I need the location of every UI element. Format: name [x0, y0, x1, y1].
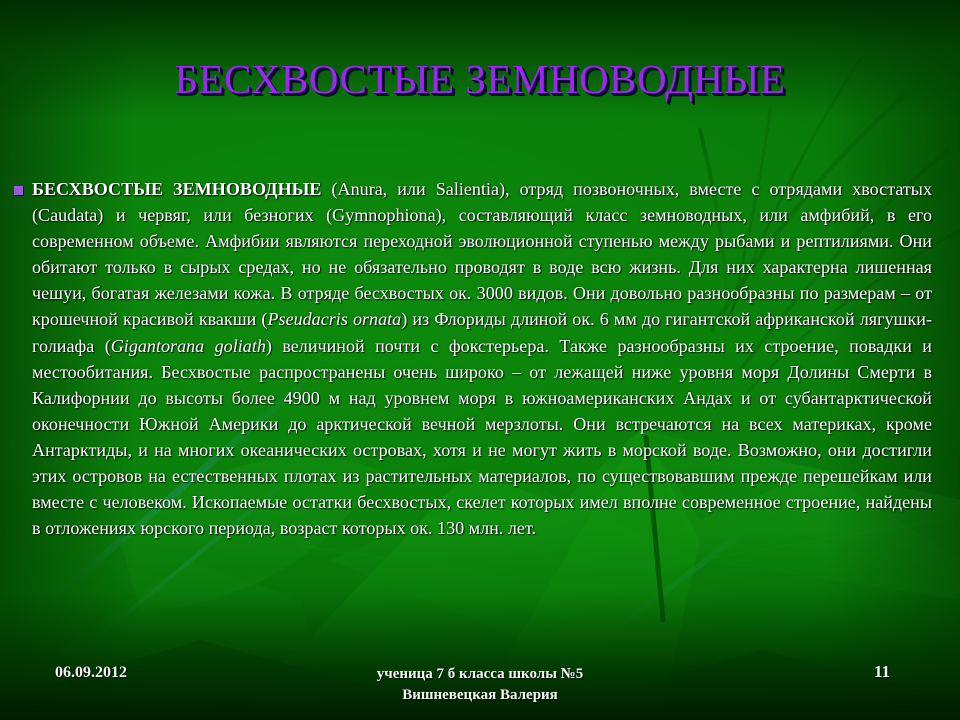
slide-title-container: БЕСХВОСТЫЕ ЗЕМНОВОДНЫЕ: [0, 58, 960, 101]
species-name-pseudacris-ornata: Pseudacris ornata: [267, 309, 401, 329]
body-lead-bold: БЕСХВОСТЫЕ ЗЕМНОВОДНЫЕ: [32, 179, 322, 199]
slide-title: БЕСХВОСТЫЕ ЗЕМНОВОДНЫЕ: [175, 58, 786, 101]
species-name-gigantorana-goliath: Gigantorana goliath: [111, 336, 266, 356]
square-bullet-icon: [14, 186, 23, 195]
footer-date: 06.09.2012: [55, 664, 127, 682]
slide-body-block: БЕСХВОСТЫЕ ЗЕМНОВОДНЫЕ (Anura, или Salie…: [10, 176, 940, 541]
footer-author-line-2: Вишневецкая Валерия: [280, 685, 680, 706]
body-part-3: ) величиной почти с фокстерьера. Также р…: [32, 336, 932, 539]
footer-author: ученица 7 б класса школы №5 Вишневецкая …: [280, 664, 680, 706]
presentation-slide: БЕСХВОСТЫЕ ЗЕМНОВОДНЫЕ БЕСХВОСТЫЕ ЗЕМНОВ…: [0, 0, 960, 720]
footer-author-line-1: ученица 7 б класса школы №5: [280, 664, 680, 685]
body-part-1: (Anura, или Salientia), отряд позвоночны…: [32, 179, 932, 329]
footer-page-number: 11: [874, 662, 890, 682]
slide-body-text: БЕСХВОСТЫЕ ЗЕМНОВОДНЫЕ (Anura, или Salie…: [32, 176, 940, 541]
